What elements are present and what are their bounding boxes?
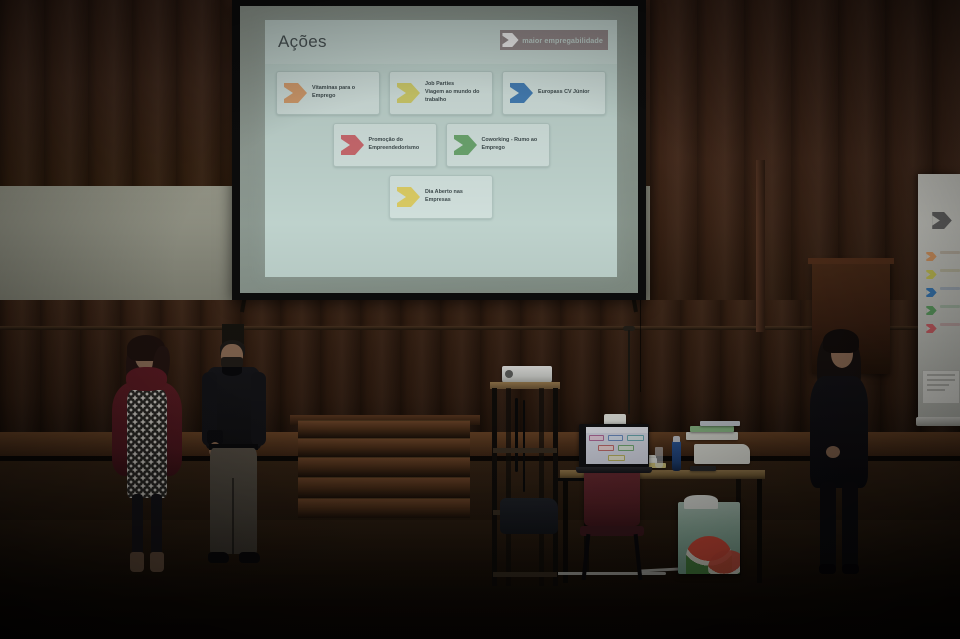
- scarf: [126, 367, 167, 391]
- laptop-slide-card: [618, 445, 634, 451]
- slide-card-label: Coworking - Rumo ao Emprego: [482, 137, 542, 152]
- hair-front: [823, 329, 859, 353]
- double-arrow-logo-icon: [510, 83, 533, 103]
- slide-card-label: Promoção do Empreendedorismo: [369, 137, 429, 152]
- slide-card: Vitaminas para o Emprego: [276, 71, 380, 115]
- remote-control: [690, 466, 716, 471]
- double-arrow-logo-icon: [502, 33, 519, 47]
- projector-stand: [490, 382, 560, 586]
- laptop-bag: [500, 498, 558, 534]
- folder-grey: [700, 421, 740, 426]
- slide-row-1: Vitaminas para o Emprego Job Parties Via…: [265, 71, 617, 115]
- stage-step: [298, 438, 470, 457]
- stage-step: [298, 457, 470, 477]
- paper-pile: [694, 444, 750, 464]
- slide-card-label: Vitaminas para o Emprego: [312, 85, 372, 100]
- drinking-glass: [655, 447, 663, 468]
- slide-card: Dia Aberto nas Empresas: [389, 175, 493, 219]
- door-frame: [756, 160, 765, 332]
- hanging-cable: [640, 300, 641, 392]
- stand-post: [492, 388, 497, 586]
- laptop-slide-card: [589, 435, 604, 441]
- slide-row-3: Dia Aberto nas Empresas: [265, 175, 617, 219]
- shoe: [842, 564, 859, 574]
- double-arrow-logo-icon: [454, 135, 477, 155]
- bottle-cap: [673, 436, 680, 442]
- banner-item: [926, 302, 960, 311]
- stand-post: [553, 388, 558, 586]
- slide-card: Promoção do Empreendedorismo: [333, 123, 437, 167]
- hands: [826, 446, 840, 458]
- presenter-left: [104, 334, 188, 578]
- banner-footer-line: [927, 384, 949, 386]
- slide-card: Coworking - Rumo ao Emprego: [446, 123, 550, 167]
- slide-card-label: Job Parties Viagem ao mundo do trabalho: [425, 81, 485, 104]
- projector: [502, 366, 552, 383]
- chair-leg: [582, 534, 591, 580]
- banner-item: [926, 284, 960, 293]
- banner-item: [926, 266, 960, 275]
- shopping-bag: [678, 502, 740, 574]
- laptop-lid: [579, 424, 649, 468]
- microphone-stand: [628, 330, 630, 414]
- laptop-slide-card: [608, 435, 623, 441]
- slide-card: Europass CV Júnior: [502, 71, 606, 115]
- laptop-slide-card: [608, 455, 625, 461]
- slide-card-label: Europass CV Júnior: [538, 89, 590, 97]
- double-arrow-logo-icon: [284, 83, 307, 103]
- table-leg: [563, 479, 568, 583]
- shoe: [239, 552, 260, 563]
- slide-card-label: Dia Aberto nas Empresas: [425, 189, 485, 204]
- table-leg: [757, 479, 762, 583]
- banner-item-text: [940, 251, 960, 254]
- boot: [130, 552, 144, 572]
- laptop-screen-header: [586, 427, 648, 433]
- banner-item: [926, 320, 960, 329]
- trouser-seam: [232, 478, 234, 554]
- stand-shelf: [493, 572, 557, 577]
- banner-item: [926, 248, 960, 257]
- stand-post: [539, 388, 544, 586]
- banner-footer-line: [927, 374, 955, 376]
- double-arrow-logo-icon: [341, 135, 364, 155]
- black-outfit: [810, 376, 868, 488]
- brand-name: maior empregabilidade: [522, 36, 603, 45]
- banner-base: [916, 417, 960, 426]
- double-arrow-logo-icon: [926, 302, 937, 311]
- banner-item-text: [940, 287, 960, 290]
- leg: [842, 482, 858, 570]
- boot: [150, 552, 164, 572]
- double-arrow-logo-icon: [397, 83, 420, 103]
- banner-item-text: [940, 323, 960, 326]
- projected-slide: Ações maior empregabilidade: [265, 20, 617, 277]
- bag-contents: [684, 495, 718, 509]
- roll-up-banner: [918, 174, 960, 419]
- laptop-slide-card: [598, 445, 614, 451]
- folder-green: [690, 426, 734, 432]
- right-wood-wall: [650, 0, 960, 318]
- collar: [222, 367, 242, 376]
- legs: [820, 482, 858, 570]
- shoe: [208, 552, 229, 563]
- stage-steps: [298, 420, 470, 518]
- dress: [127, 390, 167, 498]
- double-arrow-logo-icon: [926, 320, 937, 329]
- office-chair: [580, 468, 644, 580]
- laptop-screen[interactable]: [586, 427, 648, 464]
- banner-footer-line: [927, 379, 955, 381]
- double-arrow-logo-icon: [926, 266, 937, 275]
- stage-step: [298, 477, 470, 498]
- laptop-base: [576, 467, 652, 473]
- laptop-slide-card: [627, 435, 644, 441]
- stage-step: [298, 498, 470, 518]
- shoe: [819, 564, 836, 574]
- paper-stack: [686, 432, 738, 440]
- stand-shelf: [493, 448, 557, 453]
- presentation-scene: Ações maior empregabilidade: [0, 0, 960, 639]
- chair-backrest: [584, 468, 640, 526]
- double-arrow-logo-icon: [926, 248, 937, 257]
- projector-lens: [505, 370, 513, 378]
- arm-right: [251, 372, 266, 446]
- slide-title: Ações: [278, 32, 327, 52]
- slide-row-2: Promoção do Empreendedorismo Coworking -…: [265, 123, 617, 167]
- banner-item-text: [940, 305, 960, 308]
- presenter-center: [198, 338, 270, 578]
- stand-top-shelf: [490, 382, 560, 389]
- leg: [151, 494, 162, 556]
- slide-body: Vitaminas para o Emprego Job Parties Via…: [265, 64, 617, 277]
- leg: [132, 494, 143, 556]
- lectern-top: [808, 258, 894, 264]
- leg: [820, 482, 836, 570]
- banner-item-text: [940, 269, 960, 272]
- slide-card: Job Parties Viagem ao mundo do trabalho: [389, 71, 493, 115]
- double-arrow-logo-icon: [932, 212, 952, 229]
- legs: [132, 494, 162, 556]
- slide-header: Ações maior empregabilidade: [265, 20, 617, 64]
- presenter-right: [800, 330, 878, 592]
- presenter-laptop[interactable]: [576, 424, 652, 474]
- banner-footer: [922, 370, 960, 404]
- stage-step: [298, 420, 470, 438]
- chair-leg: [634, 534, 643, 580]
- double-arrow-logo-icon: [397, 187, 420, 207]
- stand-post: [506, 388, 511, 586]
- banner-footer-line: [927, 389, 945, 391]
- banner-items: [926, 248, 960, 338]
- water-bottle: [672, 441, 681, 471]
- double-arrow-logo-icon: [926, 284, 937, 293]
- brand-lockup: maior empregabilidade: [500, 30, 608, 50]
